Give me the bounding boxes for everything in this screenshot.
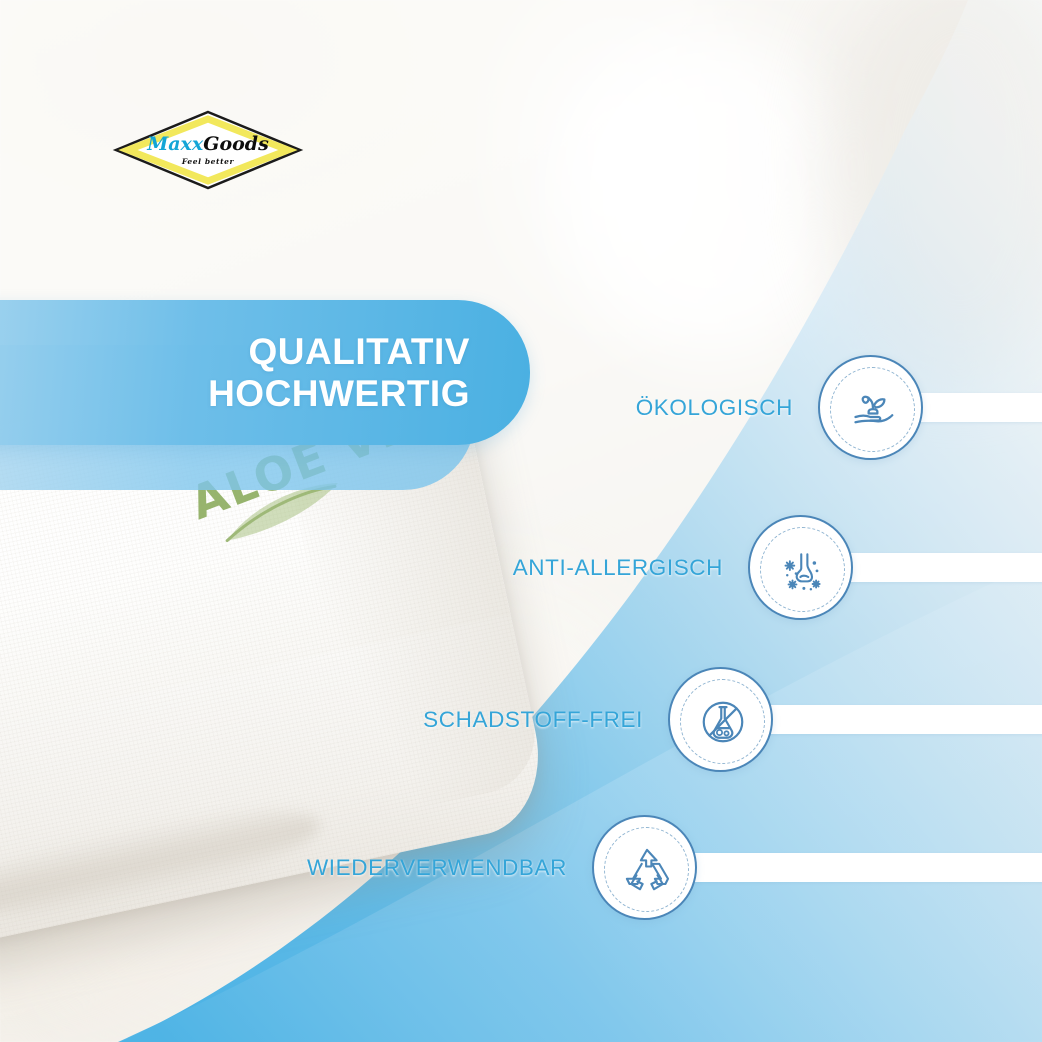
- headline-line-1: QUALITATIV: [249, 331, 471, 372]
- brand-logo: MaxxGoods Feel better: [112, 108, 304, 192]
- feature-icon-circle: [818, 355, 923, 460]
- feature-label: ÖKOLOGISCH: [603, 395, 793, 421]
- feature-label: WIEDERVERWENDBAR: [267, 855, 567, 881]
- logo-diamond-icon: [112, 108, 304, 192]
- feature-label: SCHADSTOFF-FREI: [378, 707, 643, 733]
- infographic-canvas: MaxxGoods Feel better ALOE VERA QUALITAT…: [0, 0, 1042, 1042]
- feature-label: ANTI-ALLERGISCH: [468, 555, 723, 581]
- headline-text-block: QUALITATIV HOCHWERTIG: [0, 300, 530, 445]
- headline-banner: QUALITATIV HOCHWERTIG: [0, 300, 530, 445]
- recycling-arrows-icon: [613, 836, 680, 903]
- feature-connector-bar: [644, 853, 1042, 882]
- feature-icon-circle: [668, 667, 773, 772]
- feature-icon-circle: [748, 515, 853, 620]
- headline-line-2: HOCHWERTIG: [208, 373, 470, 414]
- no-chemical-flask-icon: [689, 688, 756, 755]
- nose-pollen-allergy-icon: [769, 536, 836, 603]
- feature-icon-circle: [592, 815, 697, 920]
- hand-holding-sprout-icon: [839, 376, 906, 443]
